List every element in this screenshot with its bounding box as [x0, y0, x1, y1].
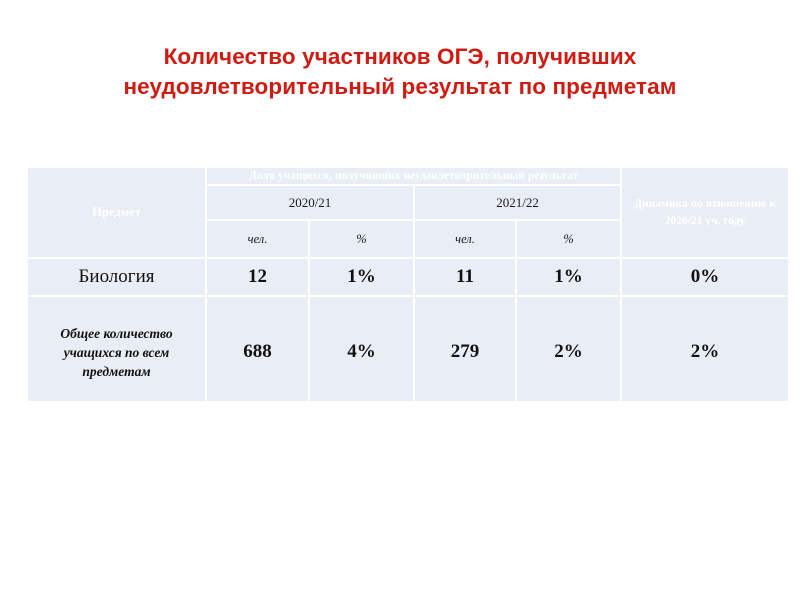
row-biology-percent-2021-22: 1%	[517, 259, 620, 295]
header-subject: Предмет	[28, 168, 205, 257]
header-unit-percent-2020-21: %	[310, 221, 413, 257]
row-subject-biology: Биология	[28, 259, 205, 295]
row-total-percent-2021-22: 2%	[517, 297, 620, 401]
results-table-container: Предмет Доля учащихся, получивших неудов…	[26, 166, 786, 403]
row-biology-percent-2020-21: 1%	[310, 259, 413, 295]
row-total-people-2020-21: 688	[207, 297, 308, 401]
title-line-1: Количество участников ОГЭ, получивших	[60, 42, 740, 72]
row-biology-dynamic: 0%	[622, 259, 788, 295]
header-unit-people-2020-21: чел.	[207, 221, 308, 257]
row-biology-people-2020-21: 12	[207, 259, 308, 295]
header-unit-people-2021-22: чел.	[415, 221, 515, 257]
row-total-people-2021-22: 279	[415, 297, 515, 401]
table-row: Общее количество учащихся по всем предме…	[28, 297, 788, 401]
row-biology-people-2021-22: 11	[415, 259, 515, 295]
table-row: Биология 12 1% 11 1% 0%	[28, 259, 788, 295]
header-year-2021-22: 2021/22	[415, 186, 620, 219]
header-dynamic: Динамика по отношению к 2020/21 уч. году	[622, 168, 788, 257]
table-header-row-1: Предмет Доля учащихся, получивших неудов…	[28, 168, 788, 184]
slide-root: Количество участников ОГЭ, получивших не…	[0, 0, 800, 600]
header-unit-percent-2021-22: %	[517, 221, 620, 257]
row-subject-total: Общее количество учащихся по всем предме…	[28, 297, 205, 401]
row-total-percent-2020-21: 4%	[310, 297, 413, 401]
header-year-2020-21: 2020/21	[207, 186, 413, 219]
title-line-2: неудовлетворительный результат по предме…	[60, 72, 740, 102]
row-total-dynamic: 2%	[622, 297, 788, 401]
header-share-group: Доля учащихся, получивших неудовлетворит…	[207, 168, 620, 184]
page-title: Количество участников ОГЭ, получивших не…	[60, 42, 740, 102]
results-table: Предмет Доля учащихся, получивших неудов…	[26, 166, 790, 403]
